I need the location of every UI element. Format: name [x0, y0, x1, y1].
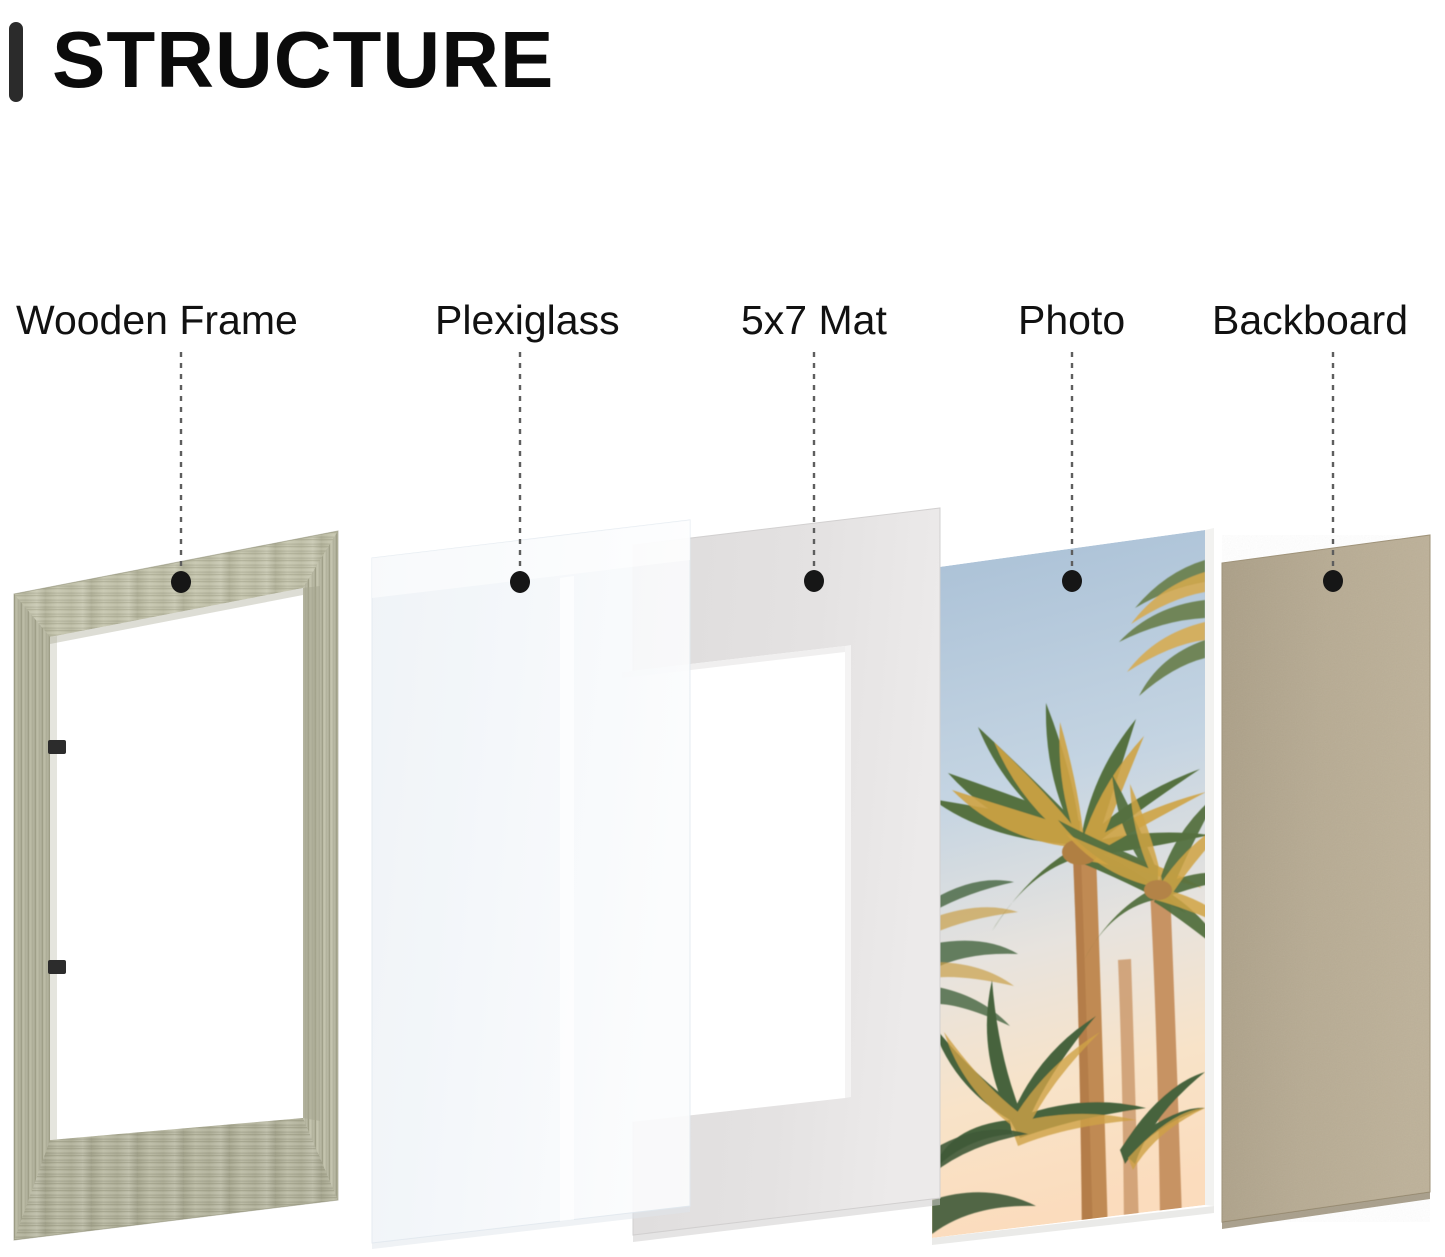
dot-photo [1062, 570, 1082, 592]
exploded-view-diagram [0, 0, 1445, 1257]
dot-wooden-frame [171, 571, 191, 593]
layer-wooden-frame [14, 531, 338, 1240]
dot-mat [804, 570, 824, 592]
layer-plexiglass [372, 520, 690, 1249]
layer-backboard [1222, 535, 1430, 1229]
dot-plexiglass [510, 571, 530, 593]
dot-backboard [1323, 570, 1343, 592]
frame-clip-upper [48, 740, 66, 754]
frame-clip-lower [48, 960, 66, 974]
layer-photo [932, 528, 1246, 1245]
